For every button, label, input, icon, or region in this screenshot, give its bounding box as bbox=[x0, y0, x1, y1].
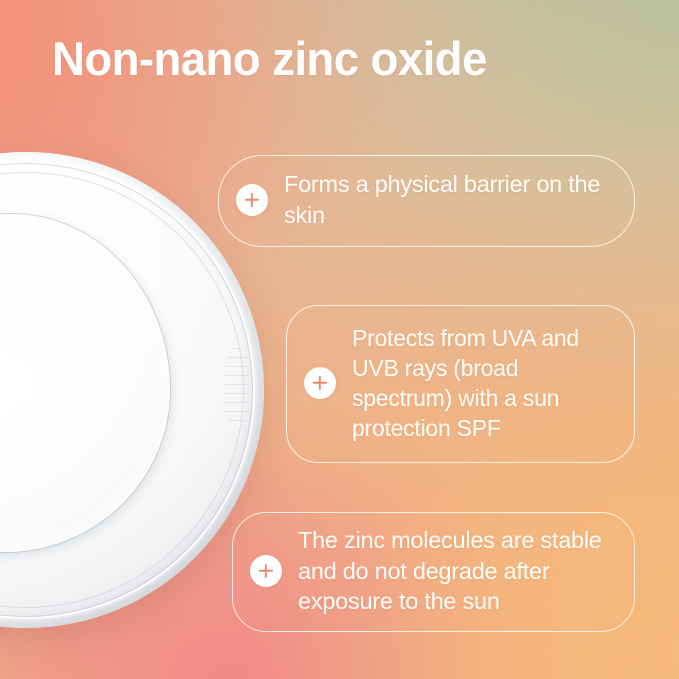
jar-rim-highlight bbox=[0, 161, 255, 619]
plus-icon bbox=[236, 184, 268, 216]
feature-card-3-text: The zinc molecules are stable and do not… bbox=[298, 525, 612, 617]
product-feature-poster: Non-nano zinc oxide Forms a physical bar… bbox=[0, 0, 679, 679]
plus-icon bbox=[304, 367, 336, 399]
jar-inner-gel bbox=[0, 214, 170, 552]
feature-card-2-text: Protects from UVA and UVB rays (broad sp… bbox=[352, 323, 612, 444]
page-title: Non-nano zinc oxide bbox=[52, 34, 634, 84]
plus-icon bbox=[250, 555, 282, 587]
jar-lid-seam bbox=[0, 172, 244, 608]
feature-card-1-text: Forms a physical barrier on the skin bbox=[284, 169, 612, 230]
feature-card-2: Protects from UVA and UVB rays (broad sp… bbox=[286, 305, 635, 463]
jar-gel-highlight bbox=[0, 334, 120, 534]
feature-card-1: Forms a physical barrier on the skin bbox=[218, 155, 635, 247]
jar-rim-texture bbox=[224, 348, 250, 428]
feature-card-3: The zinc molecules are stable and do not… bbox=[232, 512, 635, 632]
